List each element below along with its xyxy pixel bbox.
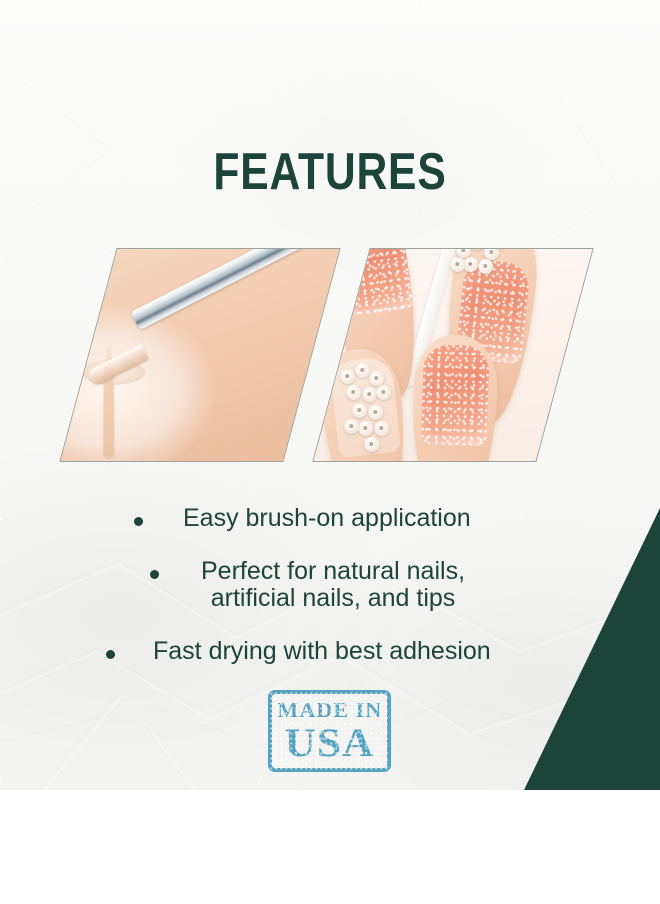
- nails-photo-art: [312, 248, 593, 462]
- decorated-nails-photo: [312, 248, 593, 462]
- stamp-line-usa: USA: [285, 723, 375, 763]
- bullet-dot-icon: [150, 570, 159, 579]
- flower-decoration: [374, 421, 389, 436]
- made-in-usa-badge: MADE IN USA: [268, 690, 391, 772]
- page-title: FEATURES: [59, 146, 600, 198]
- bullet-dot-icon: [134, 517, 143, 526]
- flower-decoration: [463, 257, 478, 272]
- bullet-text: Easy brush-on application: [183, 505, 471, 532]
- flower-decoration: [450, 257, 465, 272]
- flower-decoration: [364, 437, 379, 452]
- stamp-line-made-in: MADE IN: [277, 700, 382, 721]
- made-in-usa-stamp: MADE IN USA: [268, 690, 391, 772]
- nail-glitter-bottom-middle: [421, 344, 490, 446]
- list-item: Perfect for natural nails, artificial na…: [150, 558, 465, 612]
- brush-handle: [131, 248, 327, 330]
- bullet-text: Perfect for natural nails, artificial na…: [201, 558, 465, 612]
- nail-glitter-top-left: [340, 248, 414, 317]
- bullet-text: Fast drying with best adhesion: [153, 638, 491, 665]
- flower-decoration: [369, 371, 384, 386]
- nail-glue-brush-photo: [59, 248, 340, 462]
- flower-decoration: [346, 385, 361, 400]
- flower-decoration: [362, 387, 377, 402]
- flower-decoration: [358, 421, 373, 436]
- feature-infographic: FEATURES: [0, 0, 660, 904]
- feature-image-gallery: [0, 248, 660, 468]
- flower-decoration: [344, 419, 359, 434]
- flower-decoration: [355, 363, 370, 378]
- glue-photo-art: [59, 248, 340, 462]
- flower-decoration: [352, 403, 367, 418]
- bullet-dot-icon: [106, 650, 115, 659]
- flower-decoration: [368, 405, 383, 420]
- flower-decoration: [376, 385, 391, 400]
- flower-decoration: [478, 259, 493, 274]
- list-item: Fast drying with best adhesion: [106, 638, 491, 665]
- flower-decoration: [340, 369, 355, 384]
- list-item: Easy brush-on application: [134, 505, 471, 532]
